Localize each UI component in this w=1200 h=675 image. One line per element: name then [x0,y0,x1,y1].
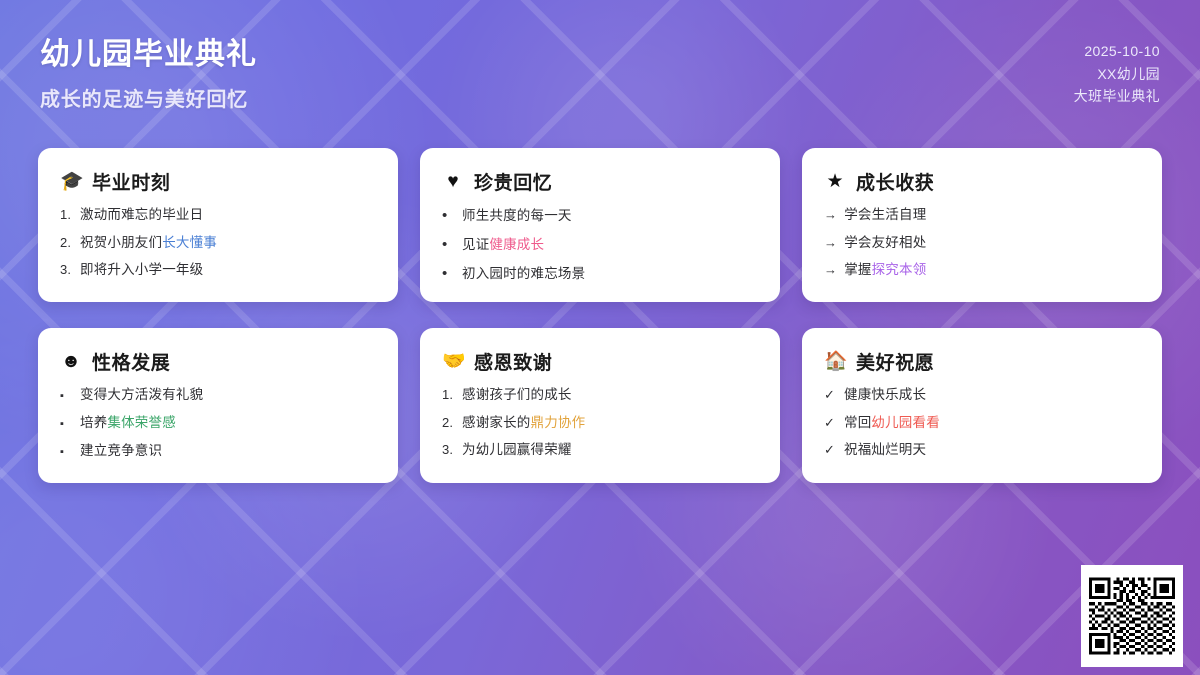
list-item-text: 学会友好相处 [844,236,926,250]
list-item-text: 建立竞争意识 [80,444,162,458]
list-item: →掌握探究本领 [824,263,1140,277]
card: ☻性格发展▪变得大方活泼有礼貌▪培养集体荣誉感▪建立竞争意识 [38,328,398,483]
meta-event: 大班毕业典礼 [1074,85,1160,108]
header-meta: 2025-10-10 XX幼儿园 大班毕业典礼 [1074,36,1160,108]
card: 🤝感恩致谢1.感谢孩子们的成长2.感谢家长的鼎力协作3.为幼儿园赢得荣耀 [420,328,780,483]
list-item: ✓常回幼儿园看看 [824,416,1140,430]
page-title: 幼儿园毕业典礼 [40,36,257,74]
graduation-cap-icon: 🎓 [60,172,82,191]
list-item-text: 学会生活自理 [844,208,926,222]
list-item: 3.即将升入小学一年级 [60,263,376,277]
highlighted-text: 健康成长 [489,238,544,252]
list-item: →学会生活自理 [824,208,1140,222]
list-item: ▪培养集体荣誉感 [60,416,376,430]
list-item-text: 感谢孩子们的成长 [462,388,572,402]
highlighted-text: 长大懂事 [162,236,217,250]
qr-code[interactable] [1081,565,1183,667]
list-marker: 3. [60,263,73,276]
card: 🎓毕业时刻1.激动而难忘的毕业日2.祝贺小朋友们长大懂事3.即将升入小学一年级 [38,148,398,302]
qr-code-image [1089,573,1175,659]
list-marker: • [442,208,455,223]
home-icon: 🏠 [824,352,846,371]
list-item: 1.感谢孩子们的成长 [442,388,758,402]
list-marker: 1. [442,388,455,401]
card-list: ▪变得大方活泼有礼貌▪培养集体荣誉感▪建立竞争意识 [60,388,376,458]
list-marker: → [824,236,837,249]
list-marker: 2. [60,236,73,249]
list-item: ✓健康快乐成长 [824,388,1140,402]
list-marker: → [824,263,837,276]
page-header: 幼儿园毕业典礼 成长的足迹与美好回忆 2025-10-10 XX幼儿园 大班毕业… [0,0,1200,132]
card-title: 美好祝愿 [856,348,934,375]
card-title: 珍贵回忆 [474,168,552,195]
card: ♥珍贵回忆•师生共度的每一天•见证健康成长•初入园时的难忘场景 [420,148,780,302]
highlighted-text: 鼎力协作 [531,416,586,430]
meta-organization: XX幼儿园 [1074,63,1160,86]
list-item-text: 为幼儿园赢得荣耀 [462,443,572,457]
meta-date: 2025-10-10 [1074,40,1160,63]
list-marker: ✓ [824,388,837,401]
handshake-icon: 🤝 [442,352,464,371]
card-grid: 🎓毕业时刻1.激动而难忘的毕业日2.祝贺小朋友们长大懂事3.即将升入小学一年级♥… [38,148,1162,483]
list-marker: 1. [60,208,73,221]
card-header: 🎓毕业时刻 [60,168,376,195]
list-item: •见证健康成长 [442,237,758,252]
list-item: →学会友好相处 [824,236,1140,250]
card-header: ♥珍贵回忆 [442,168,758,195]
list-item-text: 祝福灿烂明天 [844,443,926,457]
list-item-text: 师生共度的每一天 [462,209,572,223]
card-header: 🤝感恩致谢 [442,348,758,375]
highlighted-text: 幼儿园看看 [871,416,940,430]
list-item: •师生共度的每一天 [442,208,758,223]
list-marker: ✓ [824,443,837,456]
list-item: 3.为幼儿园赢得荣耀 [442,443,758,457]
card-list: 1.感谢孩子们的成长2.感谢家长的鼎力协作3.为幼儿园赢得荣耀 [442,388,758,457]
card-list: 1.激动而难忘的毕业日2.祝贺小朋友们长大懂事3.即将升入小学一年级 [60,208,376,277]
highlighted-text: 探究本领 [872,263,927,277]
list-marker: 2. [442,416,455,429]
star-icon: ★ [824,172,846,191]
list-item: ▪变得大方活泼有礼貌 [60,388,376,402]
card: 🏠美好祝愿✓健康快乐成长✓常回幼儿园看看✓祝福灿烂明天 [802,328,1162,483]
list-item-text: 祝贺小朋友们 [80,236,162,250]
list-item-text: 即将升入小学一年级 [80,263,203,277]
heart-icon: ♥ [442,172,464,191]
list-item-text: 掌握 [844,263,871,277]
list-item: 1.激动而难忘的毕业日 [60,208,376,222]
list-item-text: 激动而难忘的毕业日 [80,208,203,222]
list-item: 2.祝贺小朋友们长大懂事 [60,236,376,250]
card-list: ✓健康快乐成长✓常回幼儿园看看✓祝福灿烂明天 [824,388,1140,457]
list-item-text: 培养 [80,416,107,430]
list-marker: → [824,208,837,221]
highlighted-text: 集体荣誉感 [107,416,176,430]
page-subtitle: 成长的足迹与美好回忆 [40,83,257,112]
card-title: 成长收获 [856,168,934,195]
card-header: ★成长收获 [824,168,1140,195]
list-marker: 3. [442,443,455,456]
card-title: 毕业时刻 [92,168,170,195]
card-title: 性格发展 [92,348,170,375]
list-marker: ▪ [60,391,73,402]
list-item-text: 初入园时的难忘场景 [462,267,585,281]
list-marker: • [442,266,455,281]
list-item: ▪建立竞争意识 [60,444,376,458]
list-marker: ✓ [824,416,837,429]
card-list: •师生共度的每一天•见证健康成长•初入园时的难忘场景 [442,208,758,281]
list-marker: • [442,237,455,252]
list-item-text: 健康快乐成长 [844,388,926,402]
list-item: ✓祝福灿烂明天 [824,443,1140,457]
list-item: 2.感谢家长的鼎力协作 [442,416,758,430]
list-item-text: 见证 [462,238,489,252]
smiley-face-icon: ☻ [60,352,82,371]
list-item-text: 感谢家长的 [462,416,531,430]
list-item-text: 常回 [844,416,871,430]
card-header: ☻性格发展 [60,348,376,375]
list-marker: ▪ [60,419,73,430]
card-header: 🏠美好祝愿 [824,348,1140,375]
card: ★成长收获→学会生活自理→学会友好相处→掌握探究本领 [802,148,1162,302]
card-list: →学会生活自理→学会友好相处→掌握探究本领 [824,208,1140,277]
list-item: •初入园时的难忘场景 [442,266,758,281]
title-block: 幼儿园毕业典礼 成长的足迹与美好回忆 [40,36,257,112]
list-marker: ▪ [60,447,73,458]
card-title: 感恩致谢 [474,348,552,375]
list-item-text: 变得大方活泼有礼貌 [80,388,203,402]
